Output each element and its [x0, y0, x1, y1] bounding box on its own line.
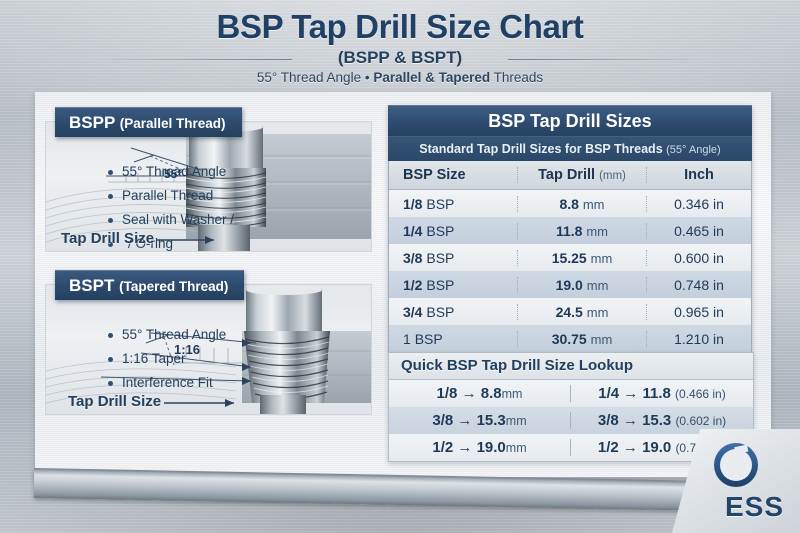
divider-line-right — [508, 59, 708, 60]
cell-tap-drill-mm: 30.75 mm — [517, 331, 647, 347]
size-suffix: BSP — [426, 196, 454, 212]
tagline-part-2: Threads — [490, 70, 543, 85]
size-fraction: 1/4 — [403, 223, 422, 239]
table-row[interactable]: 1/2 BSP 19.0 mm 0.748 in — [389, 271, 751, 298]
bspt-tap-drill-callout: Tap Drill Size — [68, 393, 161, 410]
quick-lookup-row[interactable]: 1/8 → 8.8mm 1/4 → 11.8 (0.466 in) — [389, 380, 753, 407]
table-row[interactable]: 1 BSP 30.75 mm 1.210 in — [389, 325, 751, 352]
page-subtitle: (BSPP & BSPT) — [328, 48, 472, 68]
c-circle-icon — [712, 441, 760, 489]
page-title: BSP Tap Drill Size Chart — [0, 8, 800, 46]
cell-bsp-size: 1/2 BSP — [389, 277, 517, 293]
panel-bspt-badge: BSPT (Tapered Thread) — [55, 270, 244, 300]
size-fraction: 1 — [403, 331, 411, 347]
brand-logo-text: ESS — [725, 491, 784, 523]
table-row[interactable]: 1/8 BSP 8.8 mm 0.346 in — [389, 190, 751, 217]
quick-value: 19.0 — [477, 439, 506, 456]
column-header-size: BSP Size — [389, 167, 517, 183]
quick-value: 11.8 — [642, 385, 670, 402]
cell-bsp-size: 1/8 BSP — [389, 196, 517, 212]
size-fraction: 3/8 — [403, 250, 422, 266]
quick-value: 19.0 — [642, 439, 671, 456]
panel-bspp-badge-main: BSPP — [69, 113, 115, 132]
mm-unit: mm — [591, 251, 613, 266]
tap-drill-arrow-tapered — [164, 399, 234, 407]
tap-drill-shank-tapered — [260, 395, 306, 414]
mm-value: 19.0 — [556, 277, 583, 293]
mm-unit: mm — [587, 305, 609, 320]
divider-line-left — [92, 59, 292, 60]
cell-bsp-size: 3/8 BSP — [389, 250, 517, 266]
column-header-inch: Inch — [647, 167, 751, 183]
quick-size: 3/8 — [598, 412, 619, 429]
arrow-icon: → — [623, 412, 638, 429]
bullet-item: Interference Fit — [108, 375, 226, 391]
quick-unit: mm — [502, 387, 523, 401]
mm-unit: mm — [583, 197, 605, 212]
quick-unit: mm — [506, 414, 527, 428]
cell-bsp-size: 1 BSP — [389, 331, 517, 347]
cell-inch: 1.210 in — [647, 331, 751, 347]
panel-bspt-badge-sub: (Tapered Thread) — [119, 279, 228, 294]
cell-tap-drill-mm: 11.8 mm — [517, 223, 647, 239]
arrow-icon: → — [462, 385, 477, 402]
mm-value: 30.75 — [552, 331, 587, 347]
mm-unit: mm — [587, 278, 609, 293]
quick-lookup-row[interactable]: 3/8 → 15.3mm 3/8 → 15.3 (0.602 in) — [389, 407, 753, 434]
bullet-item: 1:16 Taper — [108, 351, 226, 367]
cell-inch: 0.748 in — [647, 277, 751, 293]
quick-cell-right: 1/4 → 11.8 (0.466 in) — [571, 385, 753, 402]
mm-value: 8.8 — [559, 196, 578, 212]
size-fraction: 1/2 — [403, 277, 422, 293]
panel-bspp-badge: BSPP (Parallel Thread) — [55, 107, 242, 137]
bullet-item: Seal with Washer / — [108, 212, 234, 228]
bsp-tap-drill-table: BSP Tap Drill Sizes Standard Tap Drill S… — [388, 105, 752, 353]
quick-unit: mm — [506, 441, 527, 455]
panel-bspp-body: 55° Thread Angle Parallel Thread Seal wi… — [45, 121, 372, 252]
cell-bsp-size: 3/4 BSP — [389, 304, 517, 320]
cell-inch: 0.346 in — [647, 196, 751, 212]
table-row[interactable]: 3/8 BSP 15.25 mm 0.600 in — [389, 244, 751, 271]
cell-tap-drill-mm: 15.25 mm — [517, 250, 647, 266]
panel-bspt: BSPT (Tapered Thread) — [45, 270, 370, 413]
cell-inch: 0.600 in — [647, 250, 751, 266]
panel-bspt-bullets: 55° Thread Angle 1:16 Taper Interference… — [68, 327, 226, 399]
mm-unit: mm — [586, 224, 608, 239]
cell-tap-drill-mm: 8.8 mm — [517, 196, 647, 212]
panel-bspt-body: 55° Thread Angle 1:16 Taper Interference… — [45, 284, 372, 415]
table-header-row: BSP Size Tap Drill (mm) Inch — [389, 161, 751, 190]
quick-size: 3/8 — [432, 412, 453, 429]
size-suffix: BSP — [426, 304, 454, 320]
quick-cell-right: 3/8 → 15.3 (0.602 in) — [571, 412, 753, 429]
cell-tap-drill-mm: 19.0 mm — [517, 277, 647, 293]
mm-value: 15.25 — [552, 250, 587, 266]
size-suffix: BSP — [415, 331, 443, 347]
arrow-icon: → — [623, 439, 638, 456]
quick-size: 1/2 — [432, 439, 453, 456]
quick-size: 1/2 — [598, 439, 619, 456]
column-header-tap-drill-unit: (mm) — [599, 170, 626, 182]
quick-size: 1/8 — [437, 385, 458, 402]
cell-tap-drill-mm: 24.5 mm — [517, 304, 647, 320]
panel-bspt-badge-main: BSPT — [69, 276, 114, 295]
quick-value: 8.8 — [481, 385, 502, 402]
page-tagline: 55° Thread Angle • Parallel & Tapered Th… — [0, 70, 800, 85]
table-row[interactable]: 3/4 BSP 24.5 mm 0.965 in — [389, 298, 751, 325]
table-title: BSP Tap Drill Sizes — [388, 105, 752, 136]
size-fraction: 1/8 — [403, 196, 422, 212]
table-subtitle: Standard Tap Drill Sizes for BSP Threads… — [388, 136, 752, 161]
quick-lookup-title: Quick BSP Tap Drill Size Lookup — [389, 353, 753, 380]
quick-size: 1/4 — [598, 385, 619, 402]
tagline-part-1: 55° Thread Angle • — [257, 70, 373, 85]
quick-value: 15.3 — [477, 412, 506, 429]
quick-cell-left: 1/2 → 19.0mm — [389, 439, 571, 456]
table-row[interactable]: 1/4 BSP 11.8 mm 0.465 in — [389, 217, 751, 244]
infographic-canvas: BSP Tap Drill Size Chart (BSPP & BSPT) 5… — [0, 0, 800, 533]
tagline-emphasis: Parallel & Tapered — [373, 70, 490, 85]
table-subtitle-note: (55° Angle) — [666, 144, 721, 156]
cell-inch: 0.465 in — [647, 223, 751, 239]
mm-unit: mm — [591, 332, 613, 347]
panel-bspp: BSPP (Parallel Thread) — [45, 107, 370, 250]
bolt-head-tapered — [246, 289, 322, 331]
quick-inch: (0.602 in) — [675, 414, 726, 428]
subtitle-row: (BSPP & BSPT) — [0, 48, 800, 68]
tapered-thread-profile — [244, 331, 330, 403]
size-fraction: 3/4 — [403, 304, 422, 320]
arrow-icon: → — [623, 385, 638, 402]
mm-value: 11.8 — [556, 223, 582, 239]
bspt-taper-tag: 1:16 — [174, 342, 200, 357]
quick-cell-left: 3/8 → 15.3mm — [389, 412, 571, 429]
quick-value: 15.3 — [642, 412, 671, 429]
bullet-item: Parallel Thread — [108, 188, 234, 204]
bullet-item: 55° Thread Angle — [108, 327, 226, 343]
cell-inch: 0.965 in — [647, 304, 751, 320]
quick-cell-left: 1/8 → 8.8mm — [389, 385, 571, 402]
column-header-tap-drill: Tap Drill (mm) — [517, 167, 647, 183]
quick-inch: (0.466 in) — [675, 387, 726, 401]
arrow-icon: → — [457, 439, 472, 456]
table-body: BSP Size Tap Drill (mm) Inch 1/8 BSP 8.8… — [388, 161, 752, 353]
column-header-tap-drill-label: Tap Drill — [538, 167, 595, 183]
panel-bspp-badge-sub: (Parallel Thread) — [120, 116, 226, 131]
table-subtitle-text: Standard Tap Drill Sizes for BSP Threads — [419, 142, 662, 156]
size-suffix: BSP — [426, 250, 454, 266]
bspp-tap-drill-callout: Tap Drill Size — [61, 230, 154, 247]
arrow-icon: → — [457, 412, 472, 429]
bspp-angle-tag: 55° — [164, 167, 182, 181]
mm-value: 24.5 — [556, 304, 583, 320]
size-suffix: BSP — [426, 223, 454, 239]
size-suffix: BSP — [426, 277, 454, 293]
cell-bsp-size: 1/4 BSP — [389, 223, 517, 239]
